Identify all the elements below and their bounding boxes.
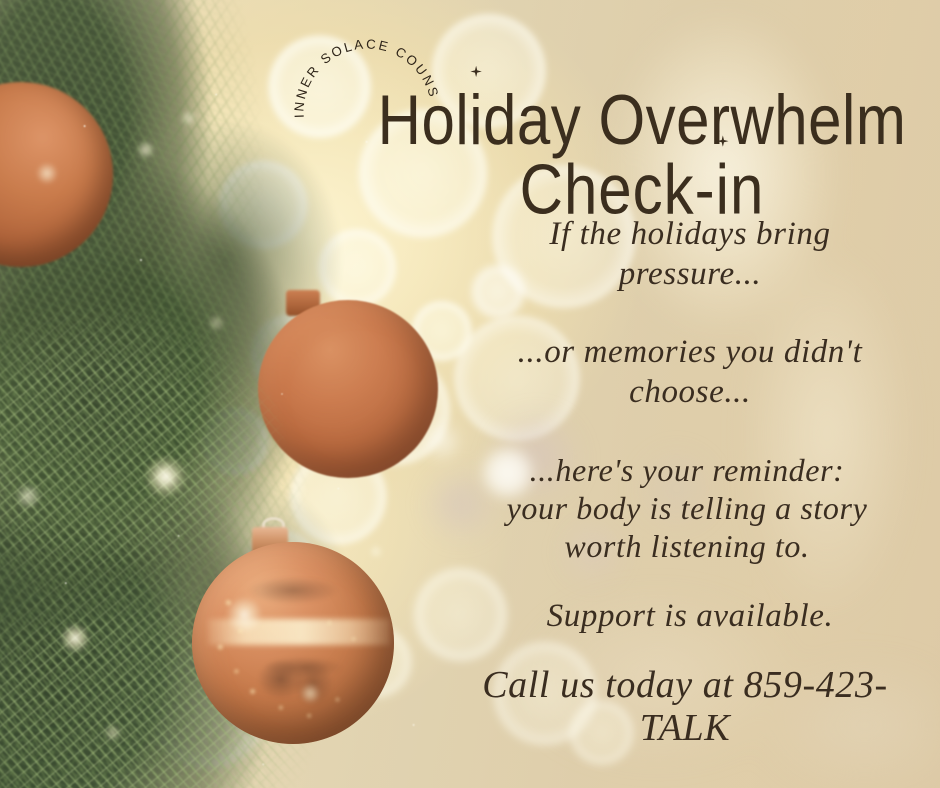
title-segment: day Overwhelm	[483, 80, 906, 159]
message-line: choose...	[440, 372, 940, 412]
cta-line: TALK	[428, 707, 940, 750]
title-segment: Hol	[378, 80, 470, 159]
message-block-support: Support is available.	[440, 596, 940, 636]
cta-line: Call us today at 859-423-	[428, 664, 940, 707]
message-line: pressure...	[440, 254, 940, 294]
message-line: ...or memories you didn't	[440, 332, 940, 372]
message-line: worth listening to.	[432, 528, 940, 566]
message-line: ...here's your reminder:	[432, 452, 940, 490]
title-letter-i: i	[469, 86, 483, 155]
poster-canvas: INNER SOLACE COUNSELING Holiday Overwhel…	[0, 0, 940, 788]
message-line: your body is telling a story	[432, 490, 940, 528]
sparkle-icon	[470, 66, 481, 77]
page-title: Holiday Overwhelm Check-in	[352, 86, 932, 225]
message-line: Support is available.	[440, 596, 940, 636]
sparkle-i-holiday: i	[469, 86, 483, 155]
poster-content: INNER SOLACE COUNSELING Holiday Overwhel…	[0, 0, 940, 788]
message-block-memories: ...or memories you didn't choose...	[440, 332, 940, 413]
message-line: If the holidays bring	[440, 214, 940, 254]
message-block-reminder: ...here's your reminder: your body is te…	[432, 452, 940, 565]
message-block-pressure: If the holidays bring pressure...	[440, 214, 940, 295]
call-to-action-phone[interactable]: Call us today at 859-423- TALK	[428, 664, 940, 749]
page-title-line-1: Holiday Overwhelm	[352, 86, 932, 155]
